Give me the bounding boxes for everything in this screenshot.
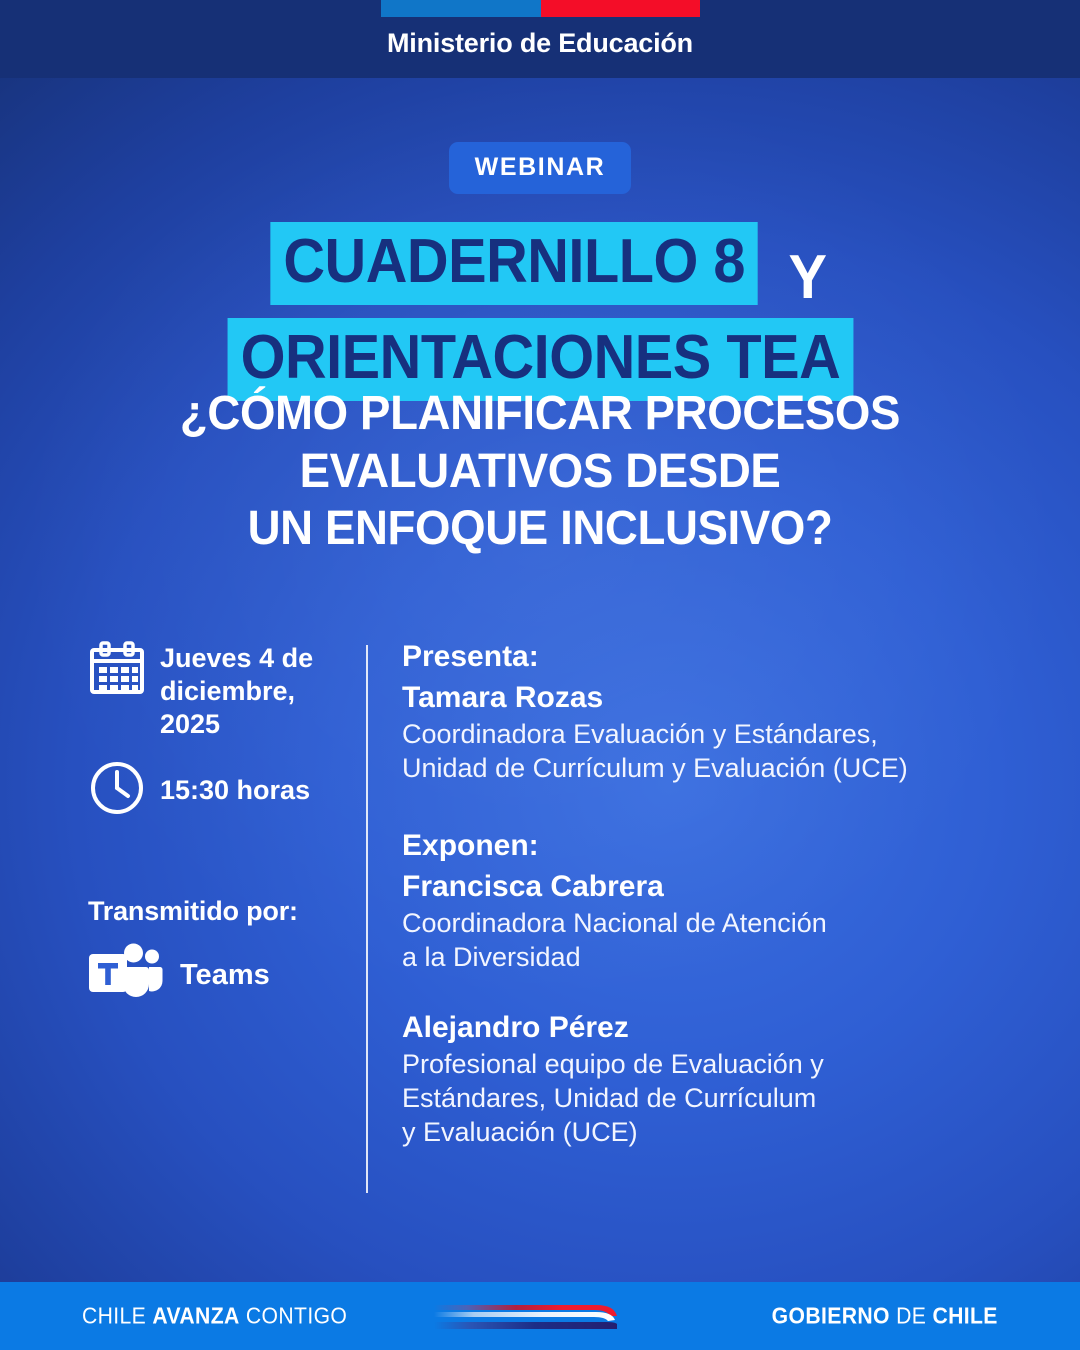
calendar-icon: [88, 640, 146, 703]
footer-gov-part-2: DE: [890, 1303, 933, 1329]
speaker-name: Alejandro Pérez: [402, 1008, 1042, 1047]
title-block: CUADERNILLO 8Y ORIENTACIONES TEA: [0, 222, 1080, 401]
flag-red-segment: [541, 0, 701, 17]
ministry-title: Ministerio de Educación: [0, 28, 1080, 59]
footer-government-label: GOBIERNO DE CHILE: [772, 1303, 998, 1330]
footer-slogan-part-3: CONTIGO: [240, 1303, 348, 1329]
header-bar: Ministerio de Educación: [0, 0, 1080, 78]
subtitle: ¿CÓMO PLANIFICAR PROCESOS EVALUATIVOS DE…: [0, 385, 1080, 558]
flag-blue-segment: [381, 0, 541, 17]
footer-slogan: CHILE AVANZA CONTIGO: [82, 1303, 347, 1330]
spacer: [402, 785, 1042, 829]
event-time: 15:30 horas: [160, 774, 310, 807]
webinar-badge: WEBINAR: [449, 142, 632, 194]
speaker-role: Profesional equipo de Evaluación y Están…: [402, 1047, 1042, 1149]
microsoft-teams-icon: [88, 941, 164, 1010]
footer-gov-part-3: CHILE: [933, 1303, 998, 1329]
column-divider: [366, 645, 368, 1193]
footer-slogan-part-1: CHILE: [82, 1303, 152, 1329]
subtitle-line-2: EVALUATIVOS DESDE: [27, 443, 1053, 501]
date-row: Jueves 4 de diciembre, 2025: [88, 640, 348, 741]
content-area: Jueves 4 de diciembre, 2025 15:30 horas …: [0, 640, 1080, 1200]
chile-flag-bar: [381, 0, 700, 17]
platform-row: Teams: [88, 941, 348, 1010]
event-details-column: Jueves 4 de diciembre, 2025 15:30 horas …: [88, 640, 348, 1010]
footer-slogan-part-2: AVANZA: [152, 1303, 239, 1329]
stream-label: Transmitido por:: [88, 896, 348, 927]
footer-gov-part-1: GOBIERNO: [772, 1303, 890, 1329]
presenter-role: Coordinadora Evaluación y Estándares, Un…: [402, 717, 1042, 785]
event-date: Jueves 4 de diciembre, 2025: [160, 640, 348, 741]
title-highlight-1: CUADERNILLO 8: [270, 222, 758, 305]
presents-heading: Presenta:: [402, 640, 1042, 674]
title-line-1: CUADERNILLO 8Y: [0, 222, 1080, 309]
title-conjunction: Y: [788, 247, 826, 309]
presenter-block: Tamara Rozas Coordinadora Evaluación y E…: [402, 678, 1042, 785]
subtitle-line-1: ¿CÓMO PLANIFICAR PROCESOS: [27, 385, 1053, 443]
webinar-badge-wrap: WEBINAR: [0, 142, 1080, 194]
gobierno-de-chile-flag-logo: [428, 1296, 652, 1336]
clock-icon: [88, 759, 146, 822]
subtitle-line-3: UN ENFOQUE INCLUSIVO?: [27, 500, 1053, 558]
expose-heading: Exponen:: [402, 829, 1042, 863]
platform-name: Teams: [180, 959, 270, 992]
time-row: 15:30 horas: [88, 759, 348, 822]
spacer: [402, 974, 1042, 1008]
speaker-name: Francisca Cabrera: [402, 867, 1042, 906]
speakers-column: Presenta: Tamara Rozas Coordinadora Eval…: [402, 640, 1042, 1149]
speaker-block-1: Francisca Cabrera Coordinadora Nacional …: [402, 867, 1042, 974]
speaker-block-2: Alejandro Pérez Profesional equipo de Ev…: [402, 1008, 1042, 1149]
footer-bar: CHILE AVANZA CONTIGO: [0, 1282, 1080, 1350]
speaker-role: Coordinadora Nacional de Atención a la D…: [402, 906, 1042, 974]
presenter-name: Tamara Rozas: [402, 678, 1042, 717]
webinar-poster: Ministerio de Educación WEBINAR CUADERNI…: [0, 0, 1080, 1350]
